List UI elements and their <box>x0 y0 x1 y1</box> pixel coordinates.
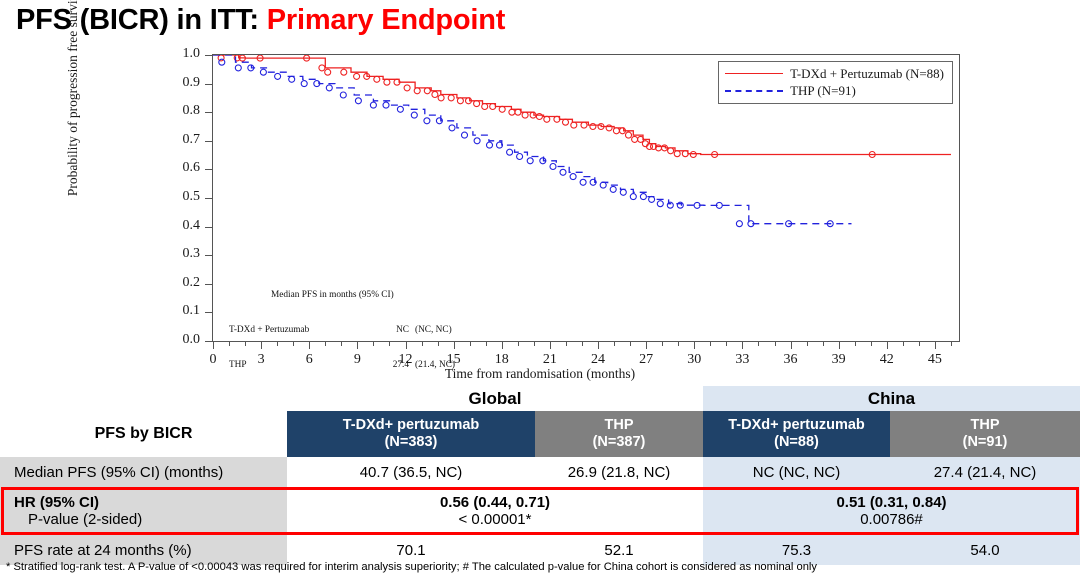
y-tick-label: 0.6 <box>160 160 200 176</box>
censor-mark-icon <box>630 194 636 200</box>
x-tick-mark-minor <box>710 342 711 346</box>
censor-mark-icon <box>550 164 556 170</box>
col-n: (N=91) <box>963 434 1008 451</box>
censor-mark-icon <box>527 158 533 164</box>
cell-hr-global: 0.56 (0.44, 0.71) < 0.00001* <box>287 487 703 535</box>
x-tick-mark-minor <box>582 342 583 346</box>
censor-mark-icon <box>507 149 513 155</box>
censor-mark-icon <box>515 109 521 115</box>
page-title-main: PFS (BICR) in ITT: <box>16 4 267 36</box>
censor-mark-icon <box>613 128 619 134</box>
censor-mark-icon <box>319 65 325 71</box>
y-tick-label: 1.0 <box>160 46 200 62</box>
col-name: T-DXd+ pertuzumab <box>728 417 865 434</box>
legend-label-tdxd: T-DXd + Pertuzumab (N=88) <box>790 66 944 82</box>
x-tick-mark-minor <box>807 342 808 346</box>
censor-mark-icon <box>289 76 295 82</box>
table-row-median-pfs: Median PFS (95% CI) (months) 40.7 (36.5,… <box>0 457 1080 487</box>
censor-mark-icon <box>690 152 696 158</box>
censor-mark-icon <box>509 109 515 115</box>
table-row-hr-pvalue: HR (95% CI) P-value (2-sided) 0.56 (0.44… <box>0 487 1080 535</box>
x-tick-mark-minor <box>726 342 727 346</box>
group-header-china: China <box>703 386 1080 411</box>
x-tick-mark-minor <box>823 342 824 346</box>
page-title-accent: Primary Endpoint <box>267 4 506 36</box>
x-tick-mark-minor <box>855 342 856 346</box>
col-name: T-DXd+ pertuzumab <box>343 417 480 434</box>
censor-mark-icon <box>474 138 480 144</box>
x-tick-mark-minor <box>534 342 535 346</box>
cell-median-china-thp: 27.4 (21.4, NC) <box>890 457 1080 487</box>
censor-mark-icon <box>674 151 680 157</box>
hr-label-line1: HR (95% CI) <box>14 494 287 511</box>
censor-mark-icon <box>326 85 332 91</box>
row-label: Median PFS (95% CI) (months) <box>0 457 287 487</box>
x-tick-mark-minor <box>630 342 631 346</box>
x-tick-mark-major <box>839 342 840 349</box>
censor-mark-icon <box>668 148 674 154</box>
censor-mark-icon <box>397 106 403 112</box>
x-tick-mark-major <box>502 342 503 349</box>
chart-y-axis-label: Probability of progression free survival <box>65 0 81 200</box>
y-tick-label: 0.5 <box>160 189 200 205</box>
censor-mark-icon <box>600 182 606 188</box>
col-n: (N=88) <box>728 434 865 451</box>
y-tick-label: 0.2 <box>160 275 200 291</box>
col-n: (N=383) <box>343 434 480 451</box>
censor-mark-icon <box>610 186 616 192</box>
cell-hr-china: 0.51 (0.31, 0.84) 0.00786# <box>703 487 1080 535</box>
x-tick-mark-minor <box>566 342 567 346</box>
censor-mark-icon <box>632 136 638 142</box>
censor-mark-icon <box>736 221 742 227</box>
censor-mark-icon <box>570 174 576 180</box>
results-table: Global China PFS by BICR T-DXd+ pertuzum… <box>0 386 1080 565</box>
censor-mark-icon <box>581 122 587 128</box>
censor-mark-icon <box>383 102 389 108</box>
y-tick-label: 0.7 <box>160 132 200 148</box>
x-tick-mark-minor <box>775 342 776 346</box>
y-tick-mark <box>205 55 212 56</box>
censor-mark-icon <box>462 132 468 138</box>
x-tick-mark-major <box>213 342 214 349</box>
censor-mark-icon <box>414 88 420 94</box>
col-name: THP <box>593 417 646 434</box>
censor-mark-icon <box>457 98 463 104</box>
censor-mark-icon <box>424 88 430 94</box>
censor-mark-icon <box>370 102 376 108</box>
censor-mark-icon <box>448 95 454 101</box>
legend-item-tdxd: T-DXd + Pertuzumab (N=88) <box>725 65 944 82</box>
chart-x-axis-label: Time from randomisation (months) <box>0 366 1080 382</box>
censor-mark-icon <box>374 76 380 82</box>
censor-mark-icon <box>640 194 646 200</box>
y-tick-mark <box>205 284 212 285</box>
col-name: THP <box>963 417 1008 434</box>
censor-mark-icon <box>499 106 505 112</box>
censor-mark-icon <box>341 69 347 75</box>
x-tick-mark-minor <box>903 342 904 346</box>
x-tick-mark-major <box>742 342 743 349</box>
stats-header: Median PFS in months (95% CI) <box>229 290 458 302</box>
cell-median-china-tdxd: NC (NC, NC) <box>703 457 890 487</box>
censor-mark-icon <box>536 114 542 120</box>
stats-row: T-DXd + Pertuzumab NC (NC, NC) <box>229 325 458 337</box>
y-tick-mark <box>205 198 212 199</box>
column-header-global-thp: THP (N=387) <box>535 411 703 457</box>
x-tick-mark-minor <box>662 342 663 346</box>
censor-mark-icon <box>517 154 523 160</box>
censor-mark-icon <box>620 189 626 195</box>
cell-median-global-thp: 26.9 (21.8, NC) <box>535 457 703 487</box>
censor-mark-icon <box>649 196 655 202</box>
page-title: PFS (BICR) in ITT: Primary Endpoint <box>16 4 505 37</box>
cell-rate-china-thp: 54.0 <box>890 535 1080 565</box>
stats-label: T-DXd + Pertuzumab <box>229 325 381 337</box>
y-tick-mark <box>205 341 212 342</box>
censor-mark-icon <box>590 124 596 130</box>
group-header-global: Global <box>287 386 703 411</box>
chart-legend: T-DXd + Pertuzumab (N=88) THP (N=91) <box>718 61 953 104</box>
censor-mark-icon <box>563 119 569 125</box>
censor-mark-icon <box>606 125 612 131</box>
censor-mark-icon <box>340 92 346 98</box>
x-tick-mark-major <box>694 342 695 349</box>
legend-label-thp: THP (N=91) <box>790 83 856 99</box>
y-tick-label: 0.8 <box>160 103 200 119</box>
legend-item-thp: THP (N=91) <box>725 82 944 99</box>
x-tick-mark-major <box>646 342 647 349</box>
censor-mark-icon <box>404 85 410 91</box>
censor-mark-icon <box>449 125 455 131</box>
x-tick-mark-major <box>598 342 599 349</box>
y-tick-mark <box>205 227 212 228</box>
group-header-blank <box>0 386 287 411</box>
x-tick-mark-minor <box>758 342 759 346</box>
y-tick-mark <box>205 312 212 313</box>
censor-mark-icon <box>474 101 480 107</box>
cell-median-global-tdxd: 40.7 (36.5, NC) <box>287 457 535 487</box>
x-tick-mark-minor <box>678 342 679 346</box>
censor-mark-icon <box>235 65 241 71</box>
x-tick-mark-major <box>935 342 936 349</box>
y-tick-mark <box>205 84 212 85</box>
y-tick-label: 0.3 <box>160 246 200 262</box>
censor-mark-icon <box>438 95 444 101</box>
x-tick-mark-minor <box>951 342 952 346</box>
censor-mark-icon <box>301 81 307 87</box>
y-tick-label: 0.1 <box>160 303 200 319</box>
stats-value: NC <box>381 325 415 337</box>
col-n: (N=387) <box>593 434 646 451</box>
x-tick-mark-minor <box>470 342 471 346</box>
censor-mark-icon <box>384 79 390 85</box>
censor-mark-icon <box>424 118 430 124</box>
hr-china-value: 0.51 (0.31, 0.84) <box>836 494 946 511</box>
censor-mark-icon <box>580 179 586 185</box>
x-tick-mark-minor <box>614 342 615 346</box>
censor-mark-icon <box>482 104 488 110</box>
legend-swatch-dashed-line-icon <box>725 85 783 97</box>
y-tick-label: 0.4 <box>160 218 200 234</box>
censor-mark-icon <box>355 98 361 104</box>
censor-mark-icon <box>411 112 417 118</box>
hr-china-pvalue: 0.00786# <box>860 511 923 528</box>
table-group-header-row: Global China <box>0 386 1080 411</box>
column-header-china-thp: THP (N=91) <box>890 411 1080 457</box>
slide-root: PFS (BICR) in ITT: Primary Endpoint Prob… <box>0 0 1080 579</box>
censor-mark-icon <box>260 69 266 75</box>
censor-mark-icon <box>626 132 632 138</box>
km-chart: Probability of progression free survival… <box>0 44 1080 384</box>
y-tick-mark <box>205 169 212 170</box>
censor-mark-icon <box>219 59 225 65</box>
table-row-header-title: PFS by BICR <box>0 411 287 457</box>
censor-mark-icon <box>544 116 550 122</box>
hr-label-line2: P-value (2-sided) <box>14 511 287 528</box>
censor-mark-icon <box>560 169 566 175</box>
hr-row-label: HR (95% CI) P-value (2-sided) <box>0 487 287 535</box>
stats-ci: (NC, NC) <box>415 325 452 337</box>
x-tick-mark-major <box>791 342 792 349</box>
column-header-china-tdxd: T-DXd+ pertuzumab (N=88) <box>703 411 890 457</box>
y-tick-mark <box>205 141 212 142</box>
censor-mark-icon <box>432 92 438 98</box>
x-tick-mark-major <box>550 342 551 349</box>
censor-mark-icon <box>354 73 360 79</box>
x-tick-mark-major <box>887 342 888 349</box>
hr-global-pvalue: < 0.00001* <box>459 511 532 528</box>
x-tick-mark-minor <box>486 342 487 346</box>
x-tick-mark-minor <box>518 342 519 346</box>
y-tick-mark <box>205 112 212 113</box>
y-tick-label: 0.0 <box>160 332 200 348</box>
censor-mark-icon <box>522 112 528 118</box>
chart-plot-area: T-DXd + Pertuzumab (N=88) THP (N=91) Med… <box>212 54 960 342</box>
table-column-header-row: PFS by BICR T-DXd+ pertuzumab (N=383) TH… <box>0 411 1080 457</box>
x-tick-mark-minor <box>919 342 920 346</box>
column-header-global-tdxd: T-DXd+ pertuzumab (N=383) <box>287 411 535 457</box>
x-tick-mark-minor <box>871 342 872 346</box>
hr-global-value: 0.56 (0.44, 0.71) <box>440 494 550 511</box>
censor-mark-icon <box>657 201 663 207</box>
y-tick-mark <box>205 255 212 256</box>
legend-swatch-solid-line-icon <box>725 68 783 80</box>
censor-mark-icon <box>487 142 493 148</box>
y-tick-label: 0.9 <box>160 75 200 91</box>
censor-mark-icon <box>325 69 331 75</box>
censor-mark-icon <box>571 122 577 128</box>
censor-mark-icon <box>275 73 281 79</box>
footnote: * Stratified log-rank test. A P-value of… <box>6 561 817 573</box>
